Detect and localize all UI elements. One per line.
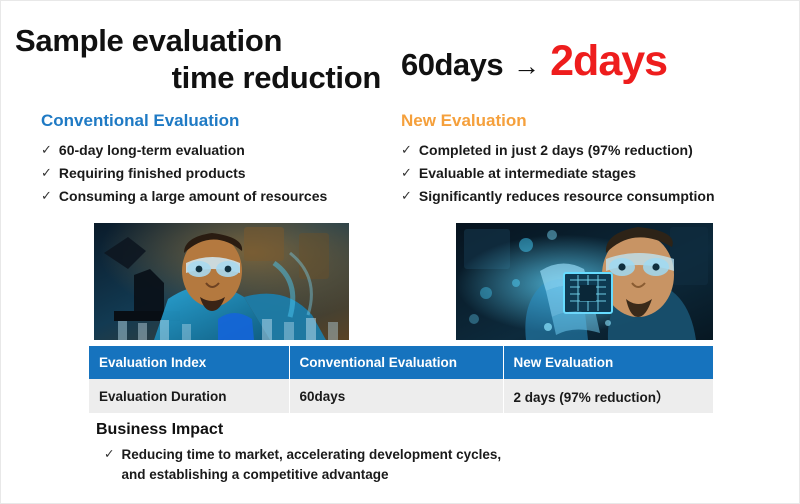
scientist-holding-glowing-chip-illustration: [456, 223, 713, 340]
bullet-label: Completed in just 2 days (97% reduction): [419, 139, 693, 162]
cell-new-value: 2 days (97% reduction）: [503, 379, 713, 413]
check-icon: ✓: [41, 185, 52, 206]
comparison-table: Evaluation Index Conventional Evaluation…: [89, 346, 713, 413]
business-impact-section: Business Impact ✓ Reducing time to marke…: [96, 421, 696, 484]
cell-conventional-value: 60days: [289, 379, 503, 413]
bullet-label: Significantly reduces resource consumpti…: [419, 185, 715, 208]
slide-canvas: Sample evaluation time reduction 60days …: [0, 0, 800, 504]
table-header: Evaluation Index Conventional Evaluation…: [89, 346, 713, 379]
list-item: ✓ Requiring finished products: [41, 162, 411, 185]
business-impact-bullet: ✓ Reducing time to market, accelerating …: [96, 445, 696, 484]
title-line-2: time reduction: [15, 60, 385, 97]
headline-from-value: 60days: [401, 47, 503, 83]
list-item: ✓ 60-day long-term evaluation: [41, 139, 411, 162]
new-evaluation-bullet-list: ✓ Completed in just 2 days (97% reductio…: [401, 139, 791, 208]
table-row: Evaluation Duration 60days 2 days (97% r…: [89, 379, 713, 413]
list-item: ✓ Completed in just 2 days (97% reductio…: [401, 139, 791, 162]
bullet-label: Requiring finished products: [59, 162, 246, 185]
bullet-label: Evaluable at intermediate stages: [419, 162, 636, 185]
column-new-evaluation: New Evaluation ✓ Completed in just 2 day…: [401, 111, 791, 208]
arrow-right-icon: →: [513, 51, 540, 82]
check-icon: ✓: [41, 139, 52, 160]
page-title: Sample evaluation time reduction: [15, 23, 385, 96]
check-icon: ✓: [401, 185, 412, 206]
check-icon: ✓: [401, 139, 412, 160]
list-item: ✓ Consuming a large amount of resources: [41, 185, 411, 208]
headline-to-value: 2days: [550, 37, 667, 86]
new-evaluation-heading: New Evaluation: [401, 111, 791, 131]
table-header-row: Evaluation Index Conventional Evaluation…: [89, 346, 713, 379]
bullet-label: 60-day long-term evaluation: [59, 139, 245, 162]
column-conventional-evaluation: Conventional Evaluation ✓ 60-day long-te…: [41, 111, 411, 208]
list-item: ✓ Significantly reduces resource consump…: [401, 185, 791, 208]
check-icon: ✓: [104, 445, 114, 463]
check-icon: ✓: [401, 162, 412, 183]
table-body: Evaluation Duration 60days 2 days (97% r…: [89, 379, 713, 413]
bullet-label: Consuming a large amount of resources: [59, 185, 327, 208]
conventional-evaluation-photo: [94, 223, 349, 340]
conventional-heading: Conventional Evaluation: [41, 111, 411, 131]
column-header-conventional-evaluation: Conventional Evaluation: [289, 346, 503, 379]
column-header-evaluation-index: Evaluation Index: [89, 346, 289, 379]
new-evaluation-photo: [456, 223, 713, 340]
cell-evaluation-index: Evaluation Duration: [89, 379, 289, 413]
check-icon: ✓: [41, 162, 52, 183]
title-line-1: Sample evaluation: [15, 23, 385, 60]
business-impact-text: Reducing time to market, accelerating de…: [121, 445, 501, 484]
list-item: ✓ Evaluable at intermediate stages: [401, 162, 791, 185]
conventional-bullet-list: ✓ 60-day long-term evaluation ✓ Requirin…: [41, 139, 411, 208]
business-impact-heading: Business Impact: [96, 421, 696, 439]
lab-scientist-microscope-illustration: [94, 223, 349, 340]
headline-metric: 60days → 2days: [401, 37, 791, 86]
column-header-new-evaluation: New Evaluation: [503, 346, 713, 379]
